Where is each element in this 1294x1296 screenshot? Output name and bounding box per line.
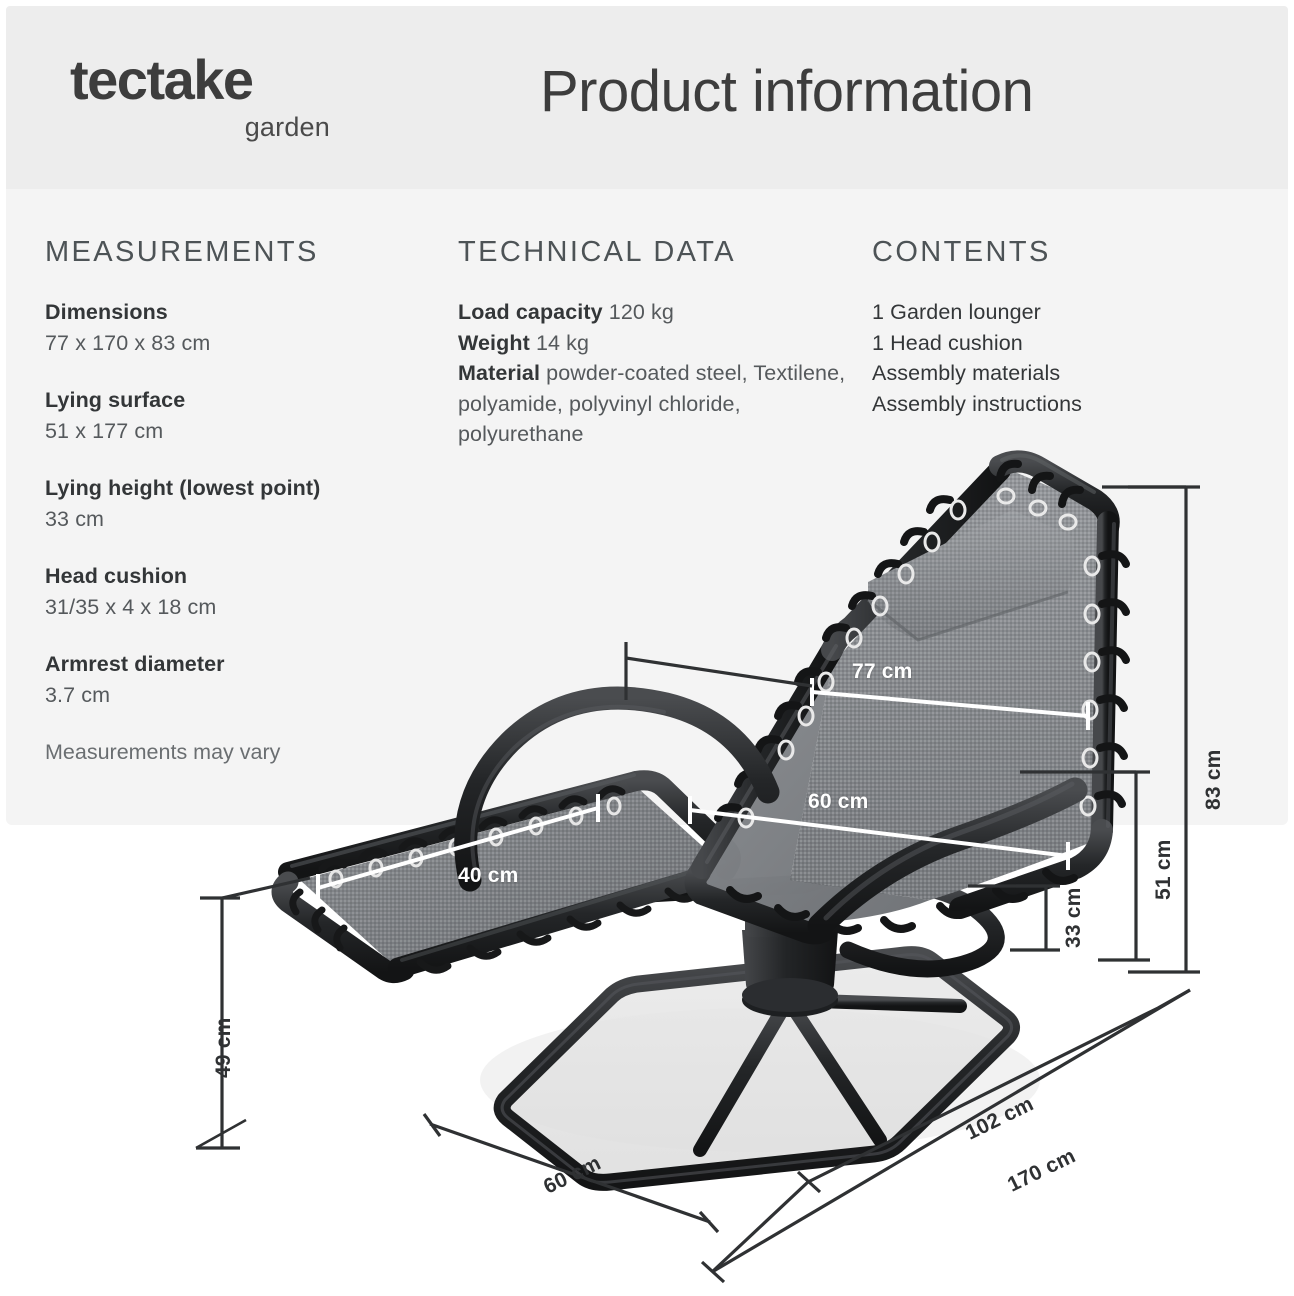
product-information-sheet: tectake garden Product information MEASU… (0, 0, 1294, 1296)
dimension-label-lying-height: 33 cm (1062, 887, 1086, 948)
dimension-label-footrest-height: 49 cm (212, 1017, 236, 1078)
dimension-label-backrest-width: 77 cm (852, 660, 913, 684)
dimension-label-total-height: 83 cm (1202, 749, 1226, 810)
dimension-label-seat-width: 60 cm (808, 790, 869, 814)
dimension-label-seat-back-height: 51 cm (1152, 839, 1176, 900)
product-illustration: 77 cm 60 cm 40 cm 83 cm 51 cm 33 cm 49 c… (0, 0, 1294, 1296)
dimension-label-footrest-width: 40 cm (458, 864, 519, 888)
